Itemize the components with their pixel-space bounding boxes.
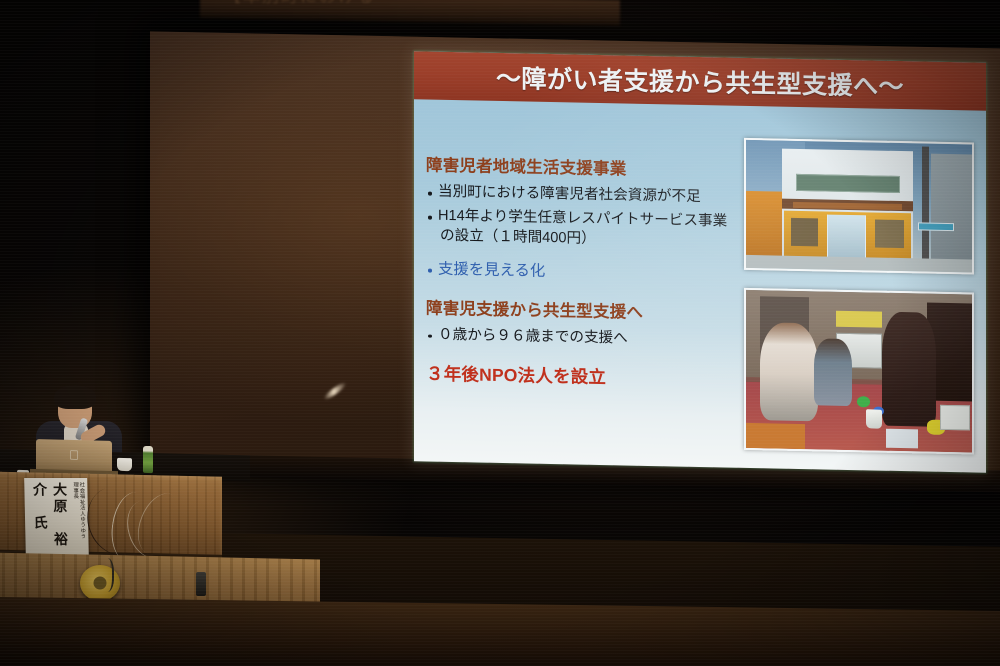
- slide-heading-1: 障害児者地域生活支援事業: [426, 151, 744, 181]
- playroom-photo-art: [746, 290, 972, 453]
- slide-bullet-2: H14年より学生任意レスパイトサービス事業 の設立（１時間400円）: [426, 207, 744, 252]
- slide-bullet-1: 当別町における障害児者社会資源が不足: [426, 182, 744, 208]
- overhead-banner-text: 【本別町における: [170, 0, 430, 7]
- microphone-stand: [196, 572, 206, 596]
- presenter-hair: [54, 385, 96, 409]
- slide-bullet-2-line2: の設立（１時間400円）: [438, 227, 744, 253]
- playroom-photo: [744, 288, 974, 455]
- photo-scene: 【本別町における 〜障がい者支援から共生型支援へ〜 障害児者地域生活支援事業 当…: [0, 0, 1000, 666]
- name-placard: 社会福祉法人ゆうゆう 理事長 大原 裕介 氏: [24, 478, 89, 558]
- laptop: : [36, 439, 112, 473]
- placard-affiliation: 社会福祉法人ゆうゆう 理事長: [72, 482, 86, 554]
- building-photo-art: [746, 140, 972, 273]
- apple-logo-icon: : [69, 448, 79, 461]
- slide-heading-3: ３年後NPO法人を設立: [426, 361, 744, 392]
- cable-reel-handle: [98, 558, 114, 592]
- slide-heading-2: 障害児支援から共生型支援へ: [426, 294, 744, 324]
- projected-slide: 〜障がい者支援から共生型支援へ〜 障害児者地域生活支援事業 当別町における障害児…: [414, 51, 986, 472]
- building-photo: [744, 138, 974, 275]
- green-tea-bottle: [143, 446, 153, 473]
- coffee-cup: [117, 458, 132, 471]
- slide-title: 〜障がい者支援から共生型支援へ〜: [496, 59, 904, 103]
- placard-name: 大原 裕介 氏: [30, 482, 71, 554]
- slide-text-column: 障害児者地域生活支援事業 当別町における障害児者社会資源が不足 H14年より学生…: [426, 151, 744, 398]
- slide-bullet-4: ０歳から９６歳までの支援へ: [426, 325, 744, 351]
- slide-body: 障害児者地域生活支援事業 当別町における障害児者社会資源が不足 H14年より学生…: [414, 99, 986, 472]
